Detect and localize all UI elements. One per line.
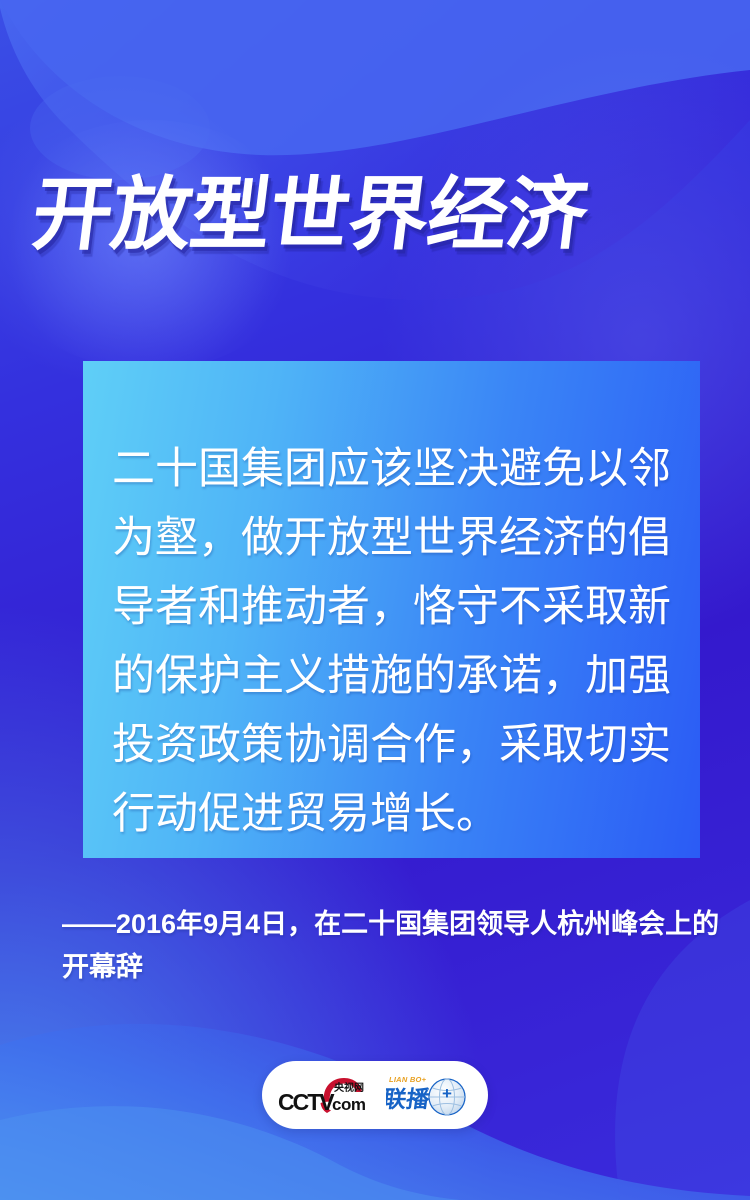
lianbo-logo: LIAN BO+ 联播 + LIAN BO+ 联播 + bbox=[386, 1073, 472, 1117]
cctv-logo: CCTV com 央视网 CCTV com 央视网 bbox=[278, 1074, 378, 1116]
bubble-small bbox=[30, 76, 210, 180]
lianbo-logo-graphic: LIAN BO+ 联播 + bbox=[386, 1073, 472, 1117]
poster-canvas: 开放型世界经济 二十国集团应该坚决避免以邻为壑，做开放型世界经济的倡导者和推动者… bbox=[0, 0, 750, 1200]
logo-badge: CCTV com 央视网 CCTV com 央视网 bbox=[262, 1061, 488, 1129]
quote-text: 二十国集团应该坚决避免以邻为壑，做开放型世界经济的倡导者和推动者，恪守不采取新的… bbox=[112, 435, 678, 849]
quote-attribution: ——2016年9月4日，在二十国集团领导人杭州峰会上的开幕辞 bbox=[62, 903, 722, 989]
cctv-logo-graphic: CCTV com 央视网 bbox=[278, 1074, 378, 1116]
lianbo-latin-text: LIAN BO+ bbox=[389, 1075, 427, 1084]
cctv-wordmark: CCTV bbox=[278, 1089, 335, 1115]
lianbo-plus-text: + bbox=[442, 1084, 452, 1103]
cctv-com-text: com bbox=[332, 1095, 366, 1114]
lianbo-cn-text: 联播 bbox=[386, 1086, 432, 1112]
cctv-cn-text: 央视网 bbox=[334, 1081, 364, 1094]
page-title: 开放型世界经济 bbox=[27, 167, 729, 263]
